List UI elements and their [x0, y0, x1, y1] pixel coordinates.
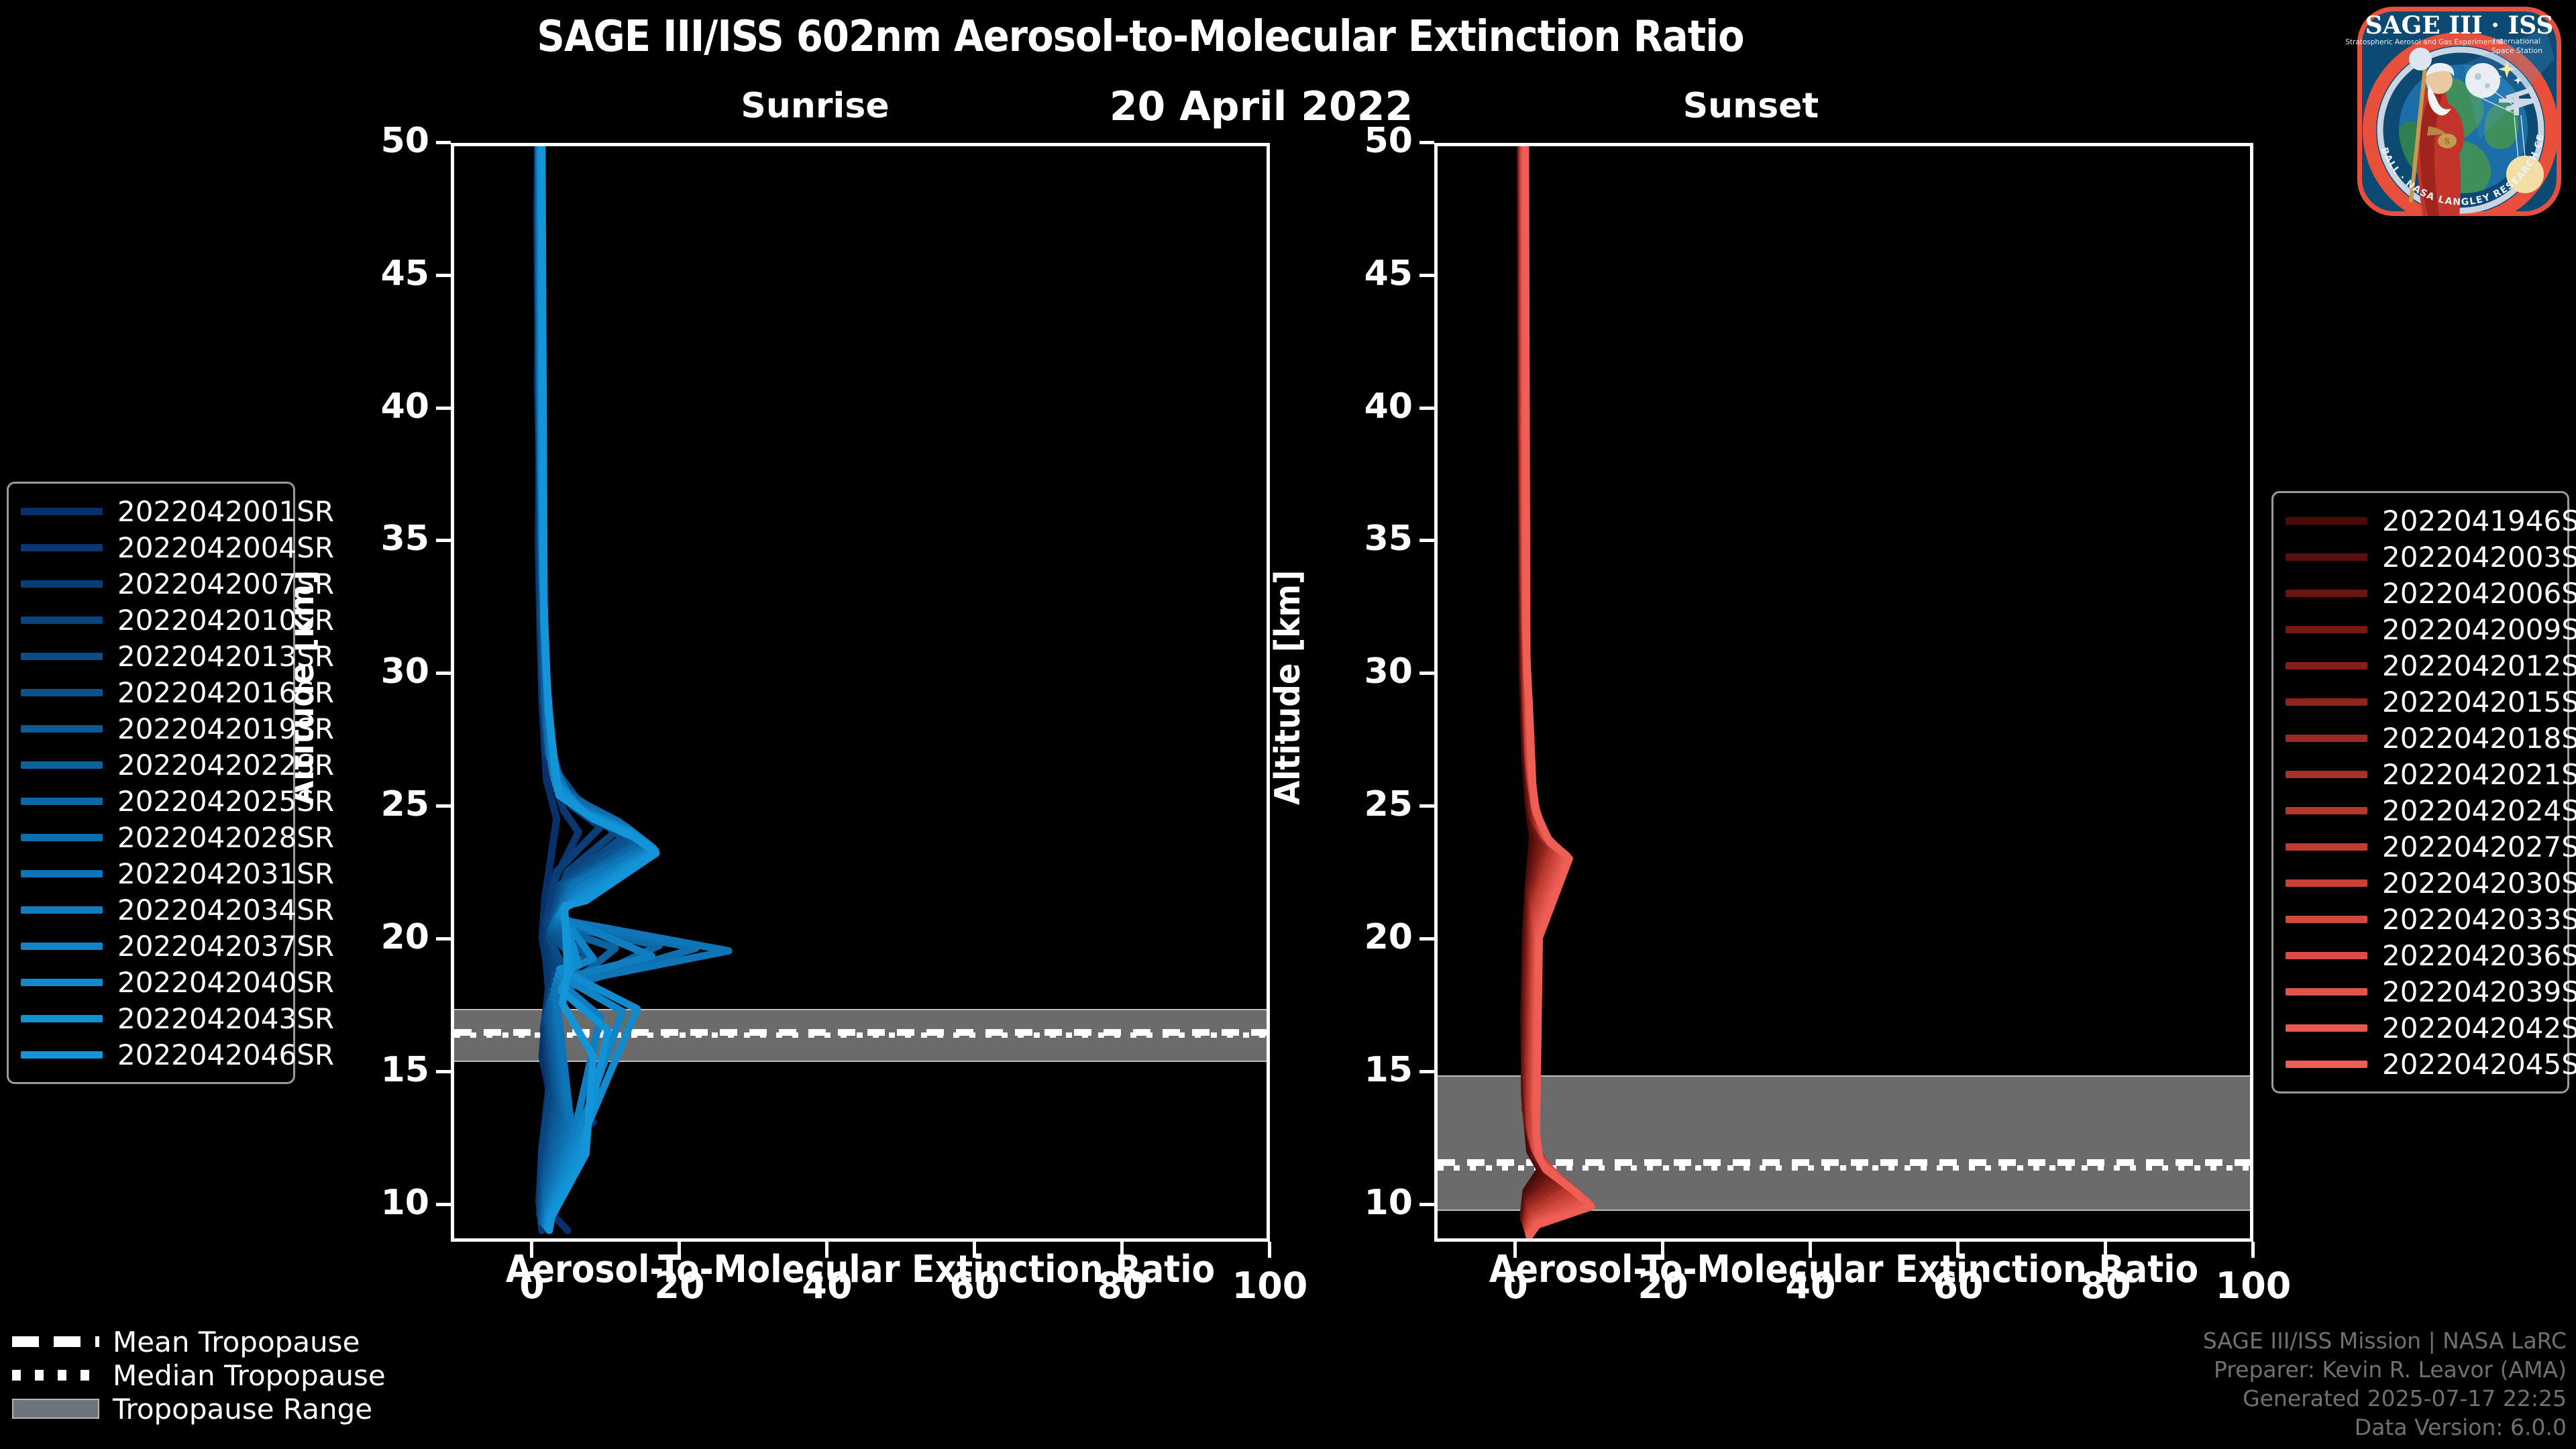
series-label: 2022042042SS	[2382, 1012, 2576, 1044]
series-color-swatch	[21, 1015, 103, 1022]
legend-sunrise-item[interactable]: 2022042019SR	[21, 710, 281, 747]
series-color-swatch	[2286, 626, 2367, 633]
legend-sunrise-item[interactable]: 2022042007SR	[21, 566, 281, 602]
credit-line-version: Data Version: 6.0.0	[2203, 1413, 2567, 1442]
y-axis-tick-label: 35	[1364, 519, 1413, 559]
y-axis-title-sunset: Altitude [km]	[1268, 570, 1308, 805]
series-label: 2022042007SR	[117, 568, 334, 600]
y-axis-tick-label: 50	[381, 121, 429, 161]
legend-sunset-item[interactable]: 2022042042SS	[2286, 1010, 2555, 1046]
y-axis-tick-label: 30	[381, 651, 429, 692]
series-line	[1525, 146, 1591, 1236]
series-color-swatch	[21, 979, 103, 986]
legend-sunset-item[interactable]: 2022042015SS	[2286, 684, 2555, 720]
series-color-swatch	[2286, 916, 2367, 923]
legend-sunset-item[interactable]: 2022042036SS	[2286, 937, 2555, 973]
series-label: 2022042033SS	[2382, 903, 2576, 936]
sunset-series-plot	[1438, 146, 2250, 1238]
series-label: 2022042012SS	[2382, 649, 2576, 682]
legend-label-range: Tropopause Range	[113, 1393, 372, 1426]
series-color-swatch	[21, 761, 103, 769]
legend-sunrise-item[interactable]: 2022042028SR	[21, 819, 281, 855]
legend-sunrise-item[interactable]: 2022042016SR	[21, 674, 281, 710]
plot-frame-sunset	[1434, 143, 2253, 1242]
y-axis-tick-label: 35	[381, 519, 429, 559]
y-axis-tick-label: 20	[1364, 917, 1413, 957]
series-color-swatch	[2286, 771, 2367, 778]
legend-sunset-item[interactable]: 2022042039SS	[2286, 973, 2555, 1010]
x-axis-title-sunset: Aerosol-To-Molecular Extinction Ratio	[1434, 1248, 2253, 1291]
series-label: 2022042030SS	[2382, 867, 2576, 900]
legend-sunrise-item[interactable]: 2022042040SR	[21, 964, 281, 1000]
series-label: 2022042027SS	[2382, 830, 2576, 863]
series-color-swatch	[2286, 590, 2367, 597]
series-label: 2022042040SR	[117, 966, 334, 999]
legend-sunset-item[interactable]: 2022042045SS	[2286, 1046, 2555, 1082]
series-color-swatch	[2286, 517, 2367, 525]
legend-item-tropopause-range: Tropopause Range	[12, 1392, 361, 1426]
series-color-swatch	[21, 943, 103, 950]
sunrise-panel-label: Sunrise	[674, 86, 956, 126]
sunrise-series-plot	[454, 146, 1267, 1238]
legend-tropopause: Mean Tropopause Median Tropopause Tropop…	[12, 1325, 361, 1426]
series-label: 2022042028SR	[117, 821, 334, 854]
sunset-panel-label: Sunset	[1610, 86, 1892, 126]
series-label: 2022042009SS	[2382, 613, 2576, 646]
sage3-iss-mission-patch-logo: S BALL · NASA LANGLEY RESEARCH CENTER · …	[2345, 1, 2573, 223]
series-color-swatch	[2286, 662, 2367, 669]
credit-line-preparer: Preparer: Kevin R. Leavor (AMA)	[2203, 1356, 2567, 1385]
series-label: 2022042039SS	[2382, 975, 2576, 1008]
legend-sunrise[interactable]: 2022042001SR2022042004SR2022042007SR2022…	[7, 482, 295, 1084]
series-color-swatch	[2286, 698, 2367, 706]
plot-panel-sunrise: 101520253035404550 020406080100	[451, 143, 1270, 1242]
legend-item-median-tropopause: Median Tropopause	[12, 1358, 361, 1392]
legend-sunrise-item[interactable]: 2022042031SR	[21, 855, 281, 892]
y-axis-tick-label: 30	[1364, 651, 1413, 692]
series-color-swatch	[21, 1051, 103, 1059]
legend-sunset-item[interactable]: 2022042009SS	[2286, 611, 2555, 647]
credits-block: SAGE III/ISS Mission | NASA LaRC Prepare…	[2203, 1327, 2567, 1442]
legend-sunrise-item[interactable]: 2022042034SR	[21, 892, 281, 928]
page-title: SAGE III/ISS 602nm Aerosol-to-Molecular …	[0, 12, 2281, 62]
y-axis-tick-label: 15	[381, 1050, 429, 1090]
y-axis-tick-label: 25	[381, 784, 429, 824]
series-color-swatch	[21, 798, 103, 805]
series-color-swatch	[2286, 879, 2367, 887]
legend-sunset-item[interactable]: 2022042006SS	[2286, 575, 2555, 611]
series-color-swatch	[2286, 553, 2367, 561]
legend-sunrise-item[interactable]: 2022042004SR	[21, 529, 281, 566]
series-label: 2022042016SR	[117, 676, 334, 709]
series-color-swatch	[21, 689, 103, 696]
series-label: 2022042013SR	[117, 640, 334, 673]
y-axis-tick-label: 50	[1364, 121, 1413, 161]
series-label: 2022042018SS	[2382, 722, 2576, 755]
legend-label-median: Median Tropopause	[113, 1359, 386, 1392]
series-label: 2022042046SR	[117, 1038, 334, 1071]
series-label: 2022042003SS	[2382, 541, 2576, 574]
date-label: 20 April 2022	[1020, 83, 1503, 130]
series-color-swatch	[21, 616, 103, 624]
series-color-swatch	[21, 580, 103, 588]
legend-sunrise-item[interactable]: 2022042046SR	[21, 1036, 281, 1073]
y-axis-tick-label: 25	[1364, 784, 1413, 824]
legend-sunrise-item[interactable]: 2022042025SR	[21, 783, 281, 819]
series-label: 2022042001SR	[117, 495, 334, 528]
series-color-swatch	[2286, 735, 2367, 742]
legend-sunset-item[interactable]: 2022042033SS	[2286, 901, 2555, 937]
x-axis-title-sunrise: Aerosol-To-Molecular Extinction Ratio	[451, 1248, 1270, 1291]
series-label: 2022042025SR	[117, 785, 334, 818]
legend-sunrise-item[interactable]: 2022042001SR	[21, 493, 281, 529]
credit-line-generated: Generated 2025-07-17 22:25	[2203, 1385, 2567, 1413]
series-label: 2022042019SR	[117, 712, 334, 745]
series-label: 2022042022SR	[117, 749, 334, 782]
legend-sunset-item[interactable]: 2022042030SS	[2286, 865, 2555, 901]
plot-panel-sunset: 101520253035404550 020406080100	[1434, 143, 2253, 1242]
logo-subtitle-right-2: Space Station	[2491, 46, 2542, 55]
series-label: 2022042010SR	[117, 604, 334, 637]
series-color-swatch	[21, 508, 103, 515]
series-color-swatch	[21, 725, 103, 733]
legend-sunrise-item[interactable]: 2022042037SR	[21, 928, 281, 964]
logo-subtitle-left: Stratospheric Aerosol and Gas Experiment…	[2345, 38, 2504, 46]
series-label: 2022042037SR	[117, 930, 334, 963]
legend-sunset-item[interactable]: 2022042024SS	[2286, 792, 2555, 828]
y-axis-tick-label: 40	[381, 386, 429, 427]
legend-sunrise-item[interactable]: 2022042013SR	[21, 638, 281, 674]
svg-text:S: S	[2445, 137, 2450, 146]
series-color-swatch	[2286, 1024, 2367, 1032]
series-label: 2022042045SS	[2382, 1048, 2576, 1081]
legend-sunset-item[interactable]: 2022042018SS	[2286, 720, 2555, 756]
credit-line-mission: SAGE III/ISS Mission | NASA LaRC	[2203, 1327, 2567, 1356]
series-color-swatch	[2286, 1061, 2367, 1068]
logo-title: SAGE III · ISS	[2365, 11, 2554, 40]
series-color-swatch	[21, 870, 103, 877]
series-label: 2022042031SR	[117, 857, 334, 890]
legend-sunset-item[interactable]: 2022042003SS	[2286, 539, 2555, 575]
series-label: 2022042036SS	[2382, 939, 2576, 972]
series-color-swatch	[21, 906, 103, 914]
legend-sunset-item[interactable]: 2022042012SS	[2286, 647, 2555, 684]
legend-sunset-item[interactable]: 2022042021SS	[2286, 756, 2555, 792]
series-color-swatch	[21, 834, 103, 841]
y-axis-tick-label: 10	[381, 1183, 429, 1223]
logo-subtitle-right-1: International	[2493, 37, 2540, 46]
y-axis-tick-label: 45	[381, 254, 429, 294]
filled-rectangle-icon	[12, 1399, 99, 1419]
y-axis-tick-label: 45	[1364, 254, 1413, 294]
series-color-swatch	[21, 544, 103, 551]
legend-item-mean-tropopause: Mean Tropopause	[12, 1325, 361, 1358]
series-color-swatch	[21, 653, 103, 660]
series-label: 2022042024SS	[2382, 794, 2576, 827]
dotted-line-icon	[12, 1370, 99, 1381]
y-axis-tick-label: 40	[1364, 386, 1413, 427]
series-color-swatch	[2286, 843, 2367, 851]
legend-label-mean: Mean Tropopause	[113, 1326, 360, 1358]
series-label: 2022042006SS	[2382, 577, 2576, 610]
y-axis-tick-label: 15	[1364, 1050, 1413, 1090]
series-label: 2022042034SR	[117, 894, 334, 926]
legend-sunrise-item[interactable]: 2022042010SR	[21, 602, 281, 638]
series-label: 2022042043SR	[117, 1002, 334, 1035]
legend-sunset-item[interactable]: 2022042027SS	[2286, 828, 2555, 865]
plot-frame-sunrise	[451, 143, 1270, 1242]
legend-sunrise-item[interactable]: 2022042043SR	[21, 1000, 281, 1036]
dashed-line-icon	[12, 1336, 99, 1347]
legend-sunset[interactable]: 2022041946SS2022042003SS2022042006SS2022…	[2271, 491, 2569, 1093]
series-color-swatch	[2286, 807, 2367, 814]
series-color-swatch	[2286, 988, 2367, 996]
series-line	[540, 146, 729, 1225]
series-label: 2022042015SS	[2382, 686, 2576, 718]
series-color-swatch	[2286, 952, 2367, 959]
y-axis-tick-label: 20	[381, 917, 429, 957]
legend-sunset-item[interactable]: 2022041946SS	[2286, 502, 2555, 539]
y-axis-tick-label: 10	[1364, 1183, 1413, 1223]
series-label: 2022041946SS	[2382, 504, 2576, 537]
legend-sunrise-item[interactable]: 2022042022SR	[21, 747, 281, 783]
series-label: 2022042004SR	[117, 531, 334, 564]
subtitle-row: Sunrise 20 April 2022 Sunset	[0, 86, 2281, 133]
series-label: 2022042021SS	[2382, 758, 2576, 791]
